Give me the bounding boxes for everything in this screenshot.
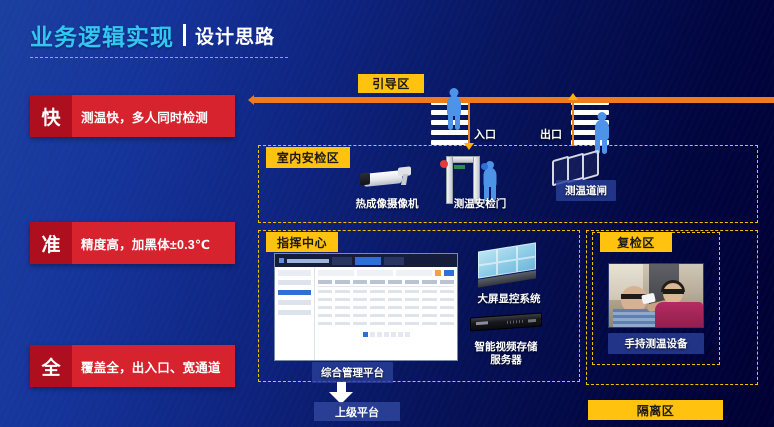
storage-server-label-line2: 服务器 — [462, 352, 550, 367]
header-dashed-rule — [30, 57, 288, 58]
platform-filter-field[interactable] — [357, 270, 393, 276]
feature-text: 测温快，多人同时检测 — [72, 95, 235, 137]
person-silhouette-at-turnstile — [592, 112, 611, 154]
platform-filter-bar — [318, 270, 454, 276]
zone-tag-command-center: 指挥中心 — [266, 232, 338, 252]
platform-nav-item[interactable] — [278, 300, 311, 305]
platform-body — [275, 267, 457, 361]
handheld-thermometer-photo — [608, 263, 704, 328]
feature-text: 覆盖全，出入口、宽通道 — [72, 345, 235, 387]
platform-sidebar-selector[interactable] — [278, 270, 311, 276]
video-wall-label: 大屏显控系统 — [466, 291, 552, 306]
entrance-flow-line — [468, 100, 470, 146]
slide-canvas: 业务逻辑实现 设计思路 快 测温快，多人同时检测 准 精度高，加黑体±0.3℃ … — [0, 0, 774, 427]
thermal-camera-icon — [358, 166, 414, 190]
feature-badge-fast: 快 测温快，多人同时检测 — [30, 95, 235, 137]
upper-platform-label: 上级平台 — [314, 402, 400, 421]
platform-logo-icon — [279, 258, 284, 263]
platform-titlebar — [275, 254, 457, 267]
feature-text: 精度高，加黑体±0.3℃ — [72, 222, 235, 264]
platform-tab-3[interactable] — [384, 257, 404, 265]
platform-pagination[interactable] — [318, 332, 454, 337]
platform-title-placeholder — [287, 259, 329, 263]
storage-server-icon — [470, 315, 542, 332]
platform-filter-field[interactable] — [396, 270, 432, 276]
zone-tag-indoor-security: 室内安检区 — [266, 147, 350, 168]
platform-label: 综合管理平台 — [312, 362, 393, 383]
gate-alarm-indicator-icon — [440, 160, 448, 168]
table-row[interactable] — [318, 303, 454, 311]
table-row[interactable] — [318, 311, 454, 319]
table-row[interactable] — [318, 319, 454, 327]
entrance-arrow-icon — [464, 143, 474, 150]
security-gate-label: 测温安检门 — [425, 196, 535, 211]
feature-badge-complete: 全 覆盖全，出入口、宽通道 — [30, 345, 235, 387]
exit-label: 出口 — [540, 126, 562, 142]
zone-tag-isolation: 隔离区 — [588, 400, 723, 420]
platform-nav-item-active[interactable] — [278, 290, 311, 295]
table-row[interactable] — [318, 295, 454, 303]
platform-tab-2-active[interactable] — [355, 257, 381, 265]
platform-nav-item[interactable] — [278, 280, 311, 285]
zone-tag-recheck: 复检区 — [600, 232, 672, 252]
title-divider — [183, 24, 186, 46]
platform-table-header — [318, 280, 454, 287]
platform-nav-item[interactable] — [278, 310, 311, 315]
feature-key: 快 — [30, 95, 72, 137]
platform-content — [315, 267, 457, 361]
platform-search-button[interactable] — [444, 270, 454, 276]
platform-filter-field[interactable] — [318, 270, 354, 276]
downward-arrow-icon — [329, 382, 353, 404]
video-wall-icon — [478, 247, 536, 283]
title-sub: 设计思路 — [195, 22, 275, 49]
platform-sidebar — [275, 267, 315, 361]
person-silhouette-walking — [444, 88, 464, 130]
gate-status-indicator-icon — [481, 163, 488, 170]
platform-tab-1[interactable] — [332, 257, 352, 265]
feature-badge-accurate: 准 精度高，加黑体±0.3℃ — [30, 222, 235, 264]
guidance-road-bar — [252, 97, 774, 103]
table-row[interactable] — [318, 287, 454, 295]
title-main: 业务逻辑实现 — [30, 18, 174, 52]
exit-flow-line — [572, 100, 574, 146]
zone-tag-guidance: 引导区 — [358, 74, 424, 93]
platform-filter-warning-icon — [435, 270, 441, 276]
turnstile-label: 测温道闸 — [556, 180, 616, 201]
feature-key: 准 — [30, 222, 72, 264]
management-platform-screenshot[interactable] — [274, 253, 458, 361]
exit-arrow-icon — [568, 93, 578, 100]
handheld-device-label: 手持测温设备 — [608, 333, 704, 354]
feature-key: 全 — [30, 345, 72, 387]
entrance-label: 入口 — [474, 126, 496, 142]
page-title: 业务逻辑实现 设计思路 — [30, 18, 275, 52]
